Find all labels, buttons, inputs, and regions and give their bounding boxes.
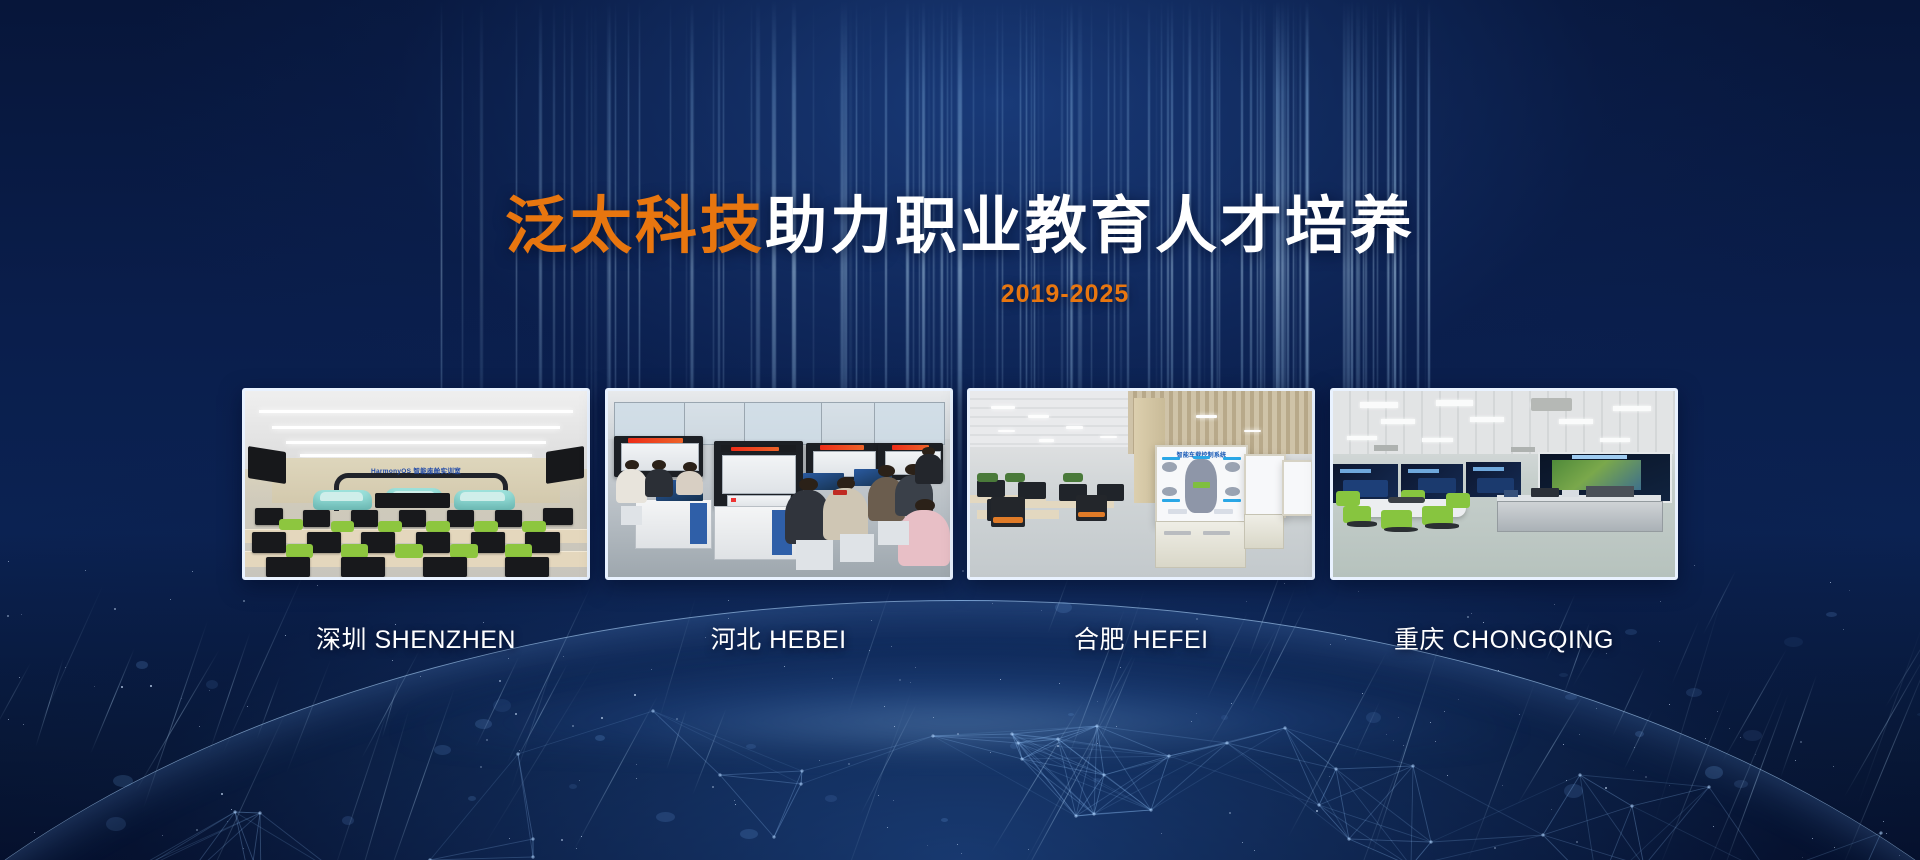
- photo-frame-hebei[interactable]: [605, 388, 953, 580]
- gallery-card-chongqing[interactable]: 重庆 CHONGQING: [1330, 388, 1678, 656]
- page-title: 泛太科技助力职业教育人才培养: [0, 196, 1920, 258]
- title-block: 泛太科技助力职业教育人才培养 2019-2025: [0, 196, 1920, 309]
- photo-shenzhen-harmonyos-cockpit-lab: HarmonyOS 智能座舱实训室: [245, 391, 587, 577]
- photo-frame-hefei[interactable]: 智能车载控制系统: [967, 388, 1315, 580]
- photo-gallery-row: HarmonyOS 智能座舱实训室: [242, 388, 1678, 656]
- photo-hebei-electrical-training-workshop: [608, 391, 950, 577]
- photo-hefei-vehicle-control-lab: 智能车载控制系统: [970, 391, 1312, 577]
- photo-chongqing-smart-classroom: [1333, 391, 1675, 577]
- title-rest: 助力职业教育人才培养: [765, 192, 1415, 261]
- caption-chongqing: 重庆 CHONGQING: [1330, 620, 1678, 656]
- promo-banner: 泛太科技助力职业教育人才培养 2019-2025 HarmonyOS 智能座舱实…: [0, 0, 1920, 860]
- brand-name: 泛太科技: [505, 192, 765, 261]
- gallery-card-shenzhen[interactable]: HarmonyOS 智能座舱实训室: [242, 388, 590, 656]
- gallery-card-hefei[interactable]: 智能车载控制系统: [967, 388, 1315, 656]
- photo-banner-text-shenzhen: HarmonyOS 智能座舱实训室: [327, 467, 505, 482]
- caption-shenzhen: 深圳 SHENZHEN: [242, 620, 590, 656]
- caption-hefei: 合肥 HEFEI: [967, 620, 1315, 656]
- photo-frame-shenzhen[interactable]: HarmonyOS 智能座舱实训室: [242, 388, 590, 580]
- caption-hebei: 河北 HEBEI: [605, 620, 953, 656]
- gallery-card-hebei[interactable]: 河北 HEBEI: [605, 388, 953, 656]
- photo-frame-chongqing[interactable]: [1330, 388, 1678, 580]
- year-range-subtitle: 2019-2025: [0, 280, 1920, 309]
